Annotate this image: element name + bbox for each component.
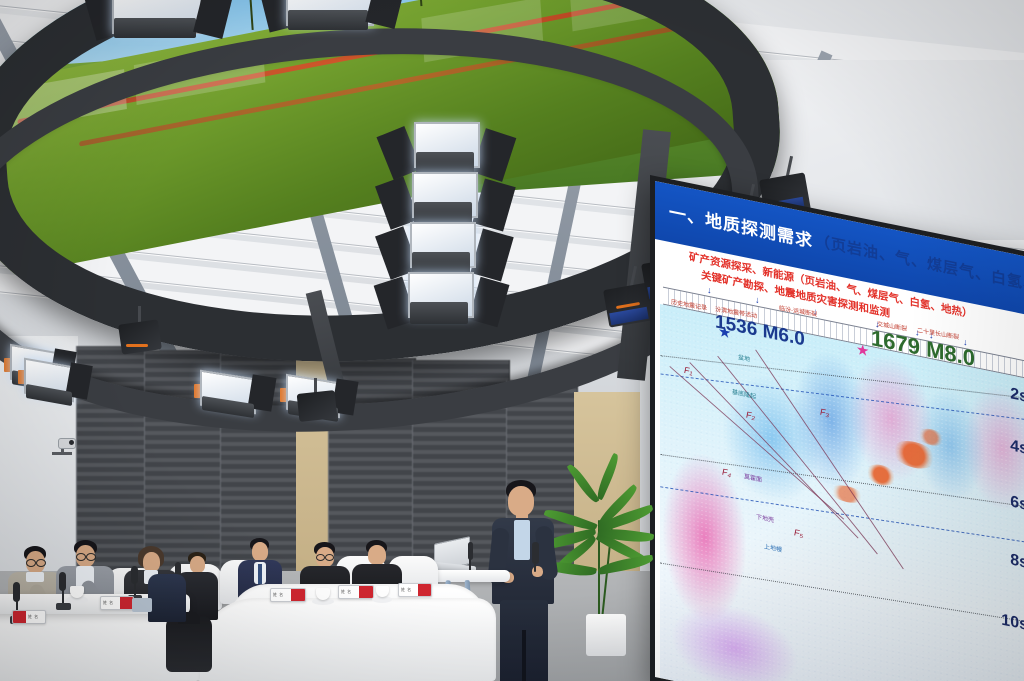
studio-light-panel [268, 0, 438, 54]
eyeglasses [36, 559, 46, 567]
fault-label: F₄ [722, 467, 731, 479]
depth-axis-label: 6s [1010, 493, 1024, 515]
podium-microphone [468, 542, 474, 572]
studio-spotlight [296, 390, 338, 432]
eyeglasses [76, 553, 86, 561]
depth-axis-label: 8s [1010, 551, 1024, 573]
nameplate: 姓 名 [398, 583, 432, 597]
depth-axis-label: 4s [1010, 437, 1024, 459]
fault-label: F₂ [746, 410, 755, 422]
curved-panel-desk [196, 598, 496, 681]
hanging-light-cluster [392, 122, 512, 332]
tablet-device[interactable] [132, 598, 152, 612]
palm-leaf [597, 554, 654, 575]
screen-surface: 一、地质探测需求 （页岩油、气、煤层气、白氢、地热）勘探 矿产资源探采、新能源（… [655, 181, 1024, 681]
wall-mounted-ptz-camera [52, 438, 78, 460]
eyeglasses [316, 554, 325, 561]
eyeglasses [26, 559, 36, 567]
fault-label: F₁ [684, 365, 692, 377]
studio-light-panel [94, 0, 264, 60]
nameplate: 姓 名 [100, 596, 134, 610]
backpack [166, 616, 212, 672]
eyeglasses [325, 554, 334, 561]
eyeglasses [86, 553, 96, 561]
audience-member [148, 560, 188, 622]
plant-pot [586, 614, 626, 656]
fault-label: F₅ [794, 527, 803, 539]
fault-label: F₃ [820, 407, 829, 419]
depth-axis-label: 2s [1010, 385, 1024, 407]
desk-microphone [56, 572, 70, 616]
nameplate: 姓 名 [12, 610, 46, 624]
nameplate: 姓 名 [270, 588, 306, 602]
studio-spotlight [118, 320, 162, 364]
nameplate: 姓 名 [338, 585, 374, 599]
handheld-microphone[interactable] [532, 542, 540, 574]
main-presentation-display[interactable]: 一、地质探测需求 （页岩油、气、煤层气、白氢、地热）勘探 矿产资源探采、新能源（… [650, 175, 1024, 681]
studio-light-panel [16, 354, 116, 414]
camera-lens-icon [69, 440, 74, 445]
studio-presentation-scene: 一、地质探测需求 （页岩油、气、煤层气、白氢、地热）勘探 矿产资源探采、新能源（… [0, 0, 1024, 681]
saucer [372, 596, 392, 603]
